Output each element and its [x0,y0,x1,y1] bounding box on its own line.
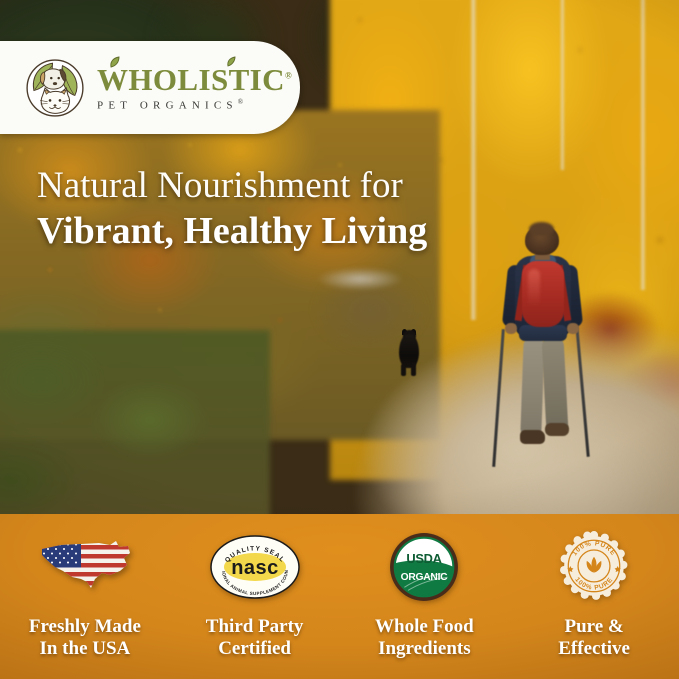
usda-top-text: USDA [407,551,442,566]
trust-badge-band: Freshly Made In the USA [0,514,679,679]
hiker-hand [567,323,579,334]
badge-label-usa: Freshly Made In the USA [29,616,141,661]
brand-wordmark: WHOLISTIC® PET ORGANICS® [97,63,292,111]
badge-pure-effective: 100% PURE 100% PURE Pur [509,514,679,679]
wordmark-registered: ® [285,71,292,81]
badge-label-line-2: Effective [558,638,630,660]
aspen-trunk [640,0,646,290]
tagline-registered: ® [238,98,243,106]
badge-label-line-1: Pure & [558,616,630,638]
hiker-leg [542,336,569,433]
badge-freshly-made-usa: Freshly Made In the USA [0,514,170,679]
badge-label-line-1: Third Party [206,616,304,638]
hiker-boot [520,430,545,444]
badge-label-line-2: Certified [206,638,304,660]
wordmark-text: WHOLISTIC® [97,65,292,94]
badge-label-line-2: In the USA [29,638,141,660]
badge-label-line-1: Freshly Made [29,616,141,638]
usa-flag-map-icon [35,536,135,598]
trekking-pole [492,329,505,467]
backpack-highlight [528,269,540,307]
headline-line-1: Natural Nourishment for [37,166,637,206]
usda-organic-seal-icon: USDA ORGANIC [388,531,460,603]
dog-body [399,334,419,368]
hero-headline: Natural Nourishment for Vibrant, Healthy… [37,166,637,253]
trekking-pole [575,325,589,457]
tagline-label: PET ORGANICS [97,100,238,112]
badge-third-party-certified: QUALITY SEAL NATIONAL ANIMAL SUPPLEMENT … [170,514,340,679]
green-shrubs [0,330,270,514]
hundred-percent-pure-seal-icon: 100% PURE 100% PURE [558,531,630,603]
wordmark-label: WHOLISTIC [97,62,285,97]
brand-tagline: PET ORGANICS® [97,98,292,112]
dog-leg [401,364,406,376]
hiker-hand [505,323,517,334]
badge-label-pure: Pure & Effective [558,616,630,661]
nasc-quality-seal-icon: QUALITY SEAL NATIONAL ANIMAL SUPPLEMENT … [209,534,301,600]
badge-label-usda: Whole Food Ingredients [375,616,474,661]
badge-whole-food-ingredients: USDA ORGANIC Whole Food Ingredients [340,514,510,679]
badge-label-nasc: Third Party Certified [206,616,304,661]
badge-label-line-1: Whole Food [375,616,474,638]
marketing-banner: WHOLISTIC® PET ORGANICS® Natural Nourish… [0,0,679,679]
hiker-hip-belt [519,325,567,341]
hiker-leg [520,337,544,436]
nasc-center-text: nasc [231,557,279,579]
badge-label-line-2: Ingredients [375,638,474,660]
aspen-trunk [560,0,565,170]
hiker-figure [489,225,599,470]
black-dog [396,330,422,376]
headline-line-2: Vibrant, Healthy Living [37,210,637,253]
brand-logo-card: WHOLISTIC® PET ORGANICS® [0,41,300,134]
path-puddle [300,262,420,296]
usda-bottom-text: ORGANIC [401,572,449,583]
hiker-boot [545,423,569,436]
dog-cat-leaf-circle-logo [24,57,86,119]
dog-leg [411,362,416,376]
